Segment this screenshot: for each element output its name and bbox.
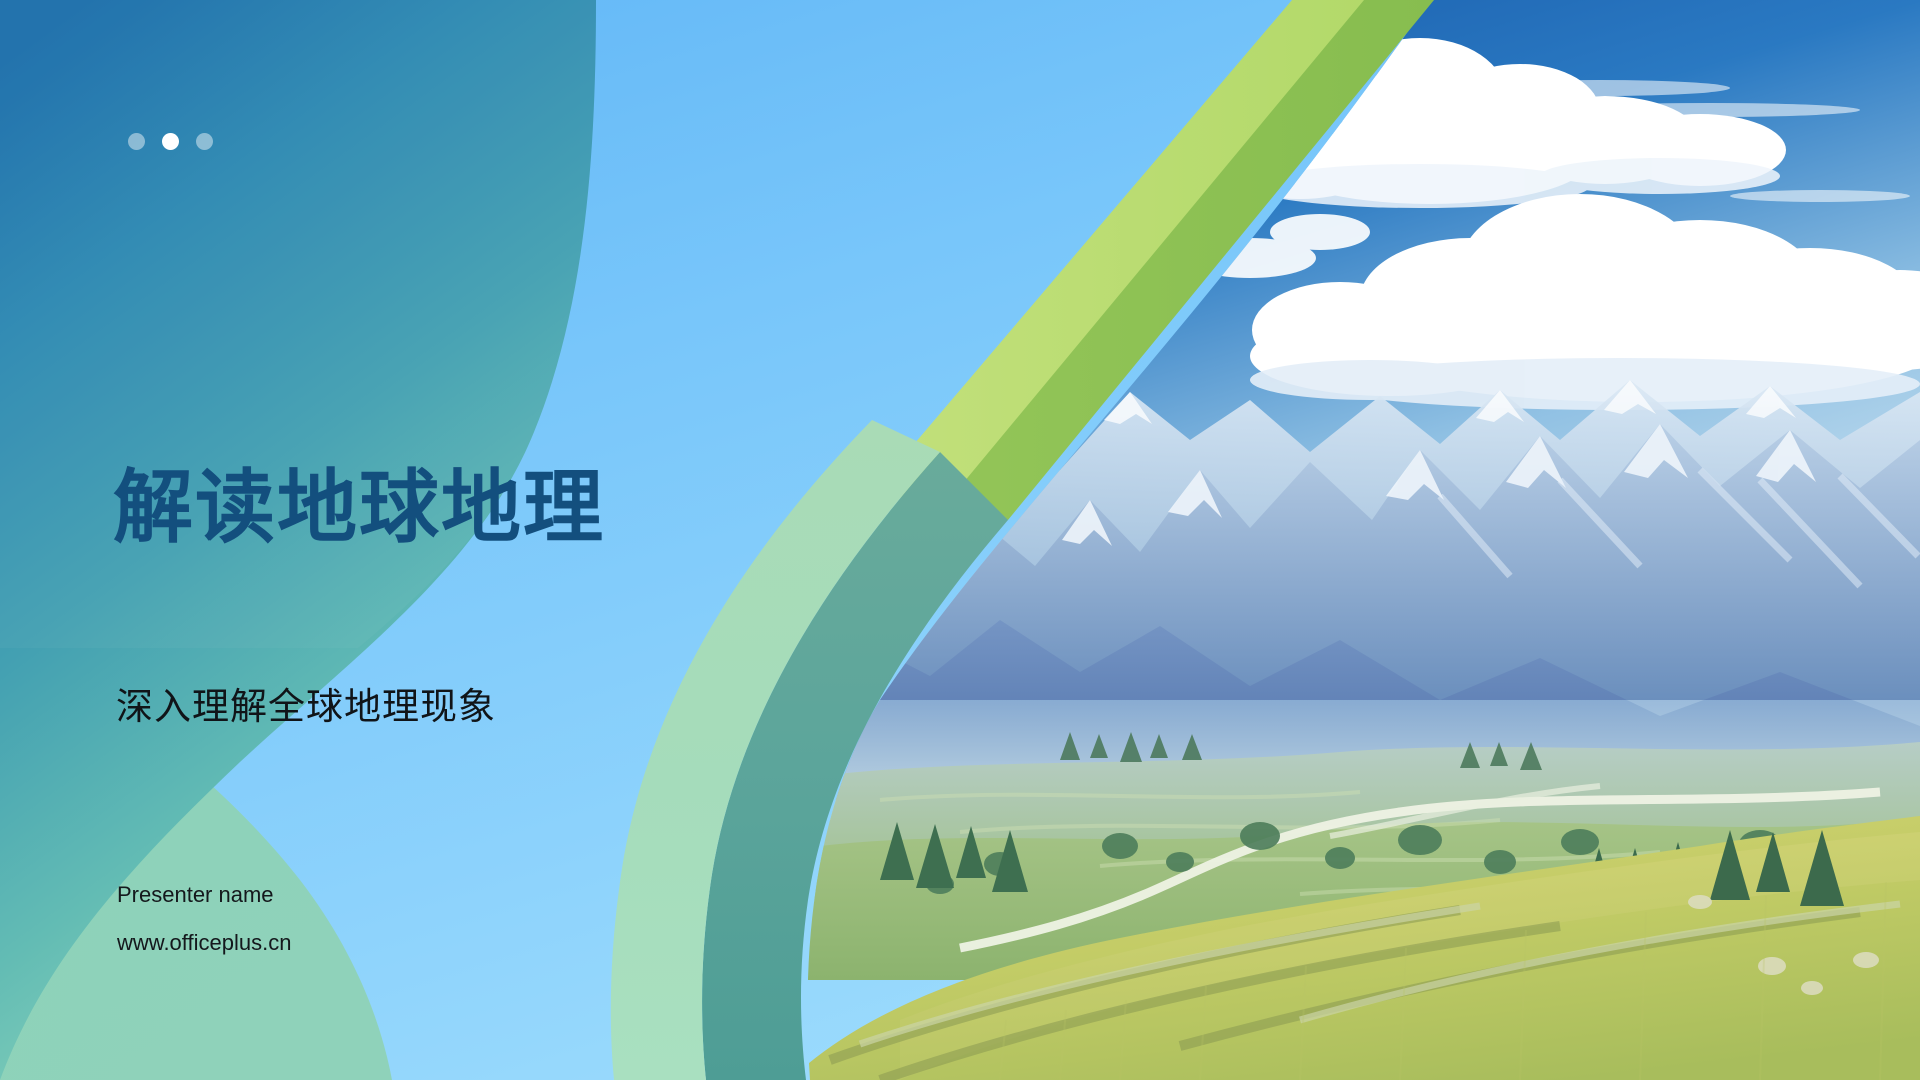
- presenter-name: Presenter name: [117, 882, 274, 908]
- website-url[interactable]: www.officeplus.cn: [117, 930, 291, 956]
- slide-dot-3[interactable]: [196, 133, 213, 150]
- slide-pagination-dots[interactable]: [128, 133, 213, 150]
- slide-dot-2[interactable]: [162, 133, 179, 150]
- slide-title: 解读地球地理: [113, 463, 605, 553]
- presentation-title-slide: 解读地球地理 深入理解全球地理现象 Presenter name www.off…: [0, 0, 1920, 1080]
- slide-dot-1[interactable]: [128, 133, 145, 150]
- slide-subtitle: 深入理解全球地理现象: [116, 676, 496, 730]
